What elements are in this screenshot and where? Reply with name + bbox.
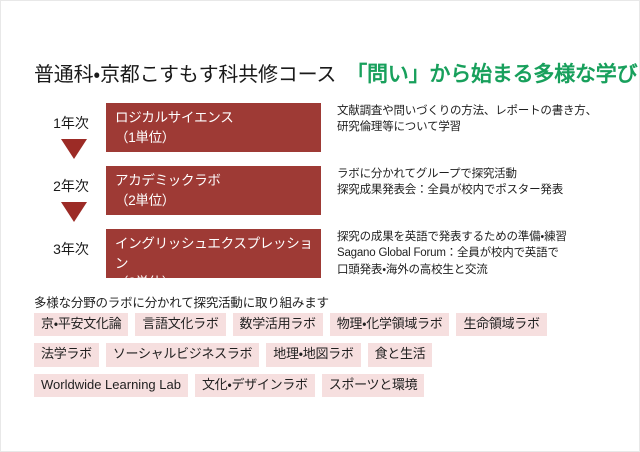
description-line: 口頭発表・海外の高校生と交流	[337, 262, 637, 278]
description-line: Sagano Global Forum：全員が校内で英語で	[337, 245, 637, 261]
course-description-2: ラボに分かれてグループで探究活動 探究成果発表会：全員が校内でポスター発表	[337, 166, 637, 199]
course-credit-1: （1単位）	[115, 128, 321, 148]
year-label-2: 2年次	[40, 176, 102, 196]
page-title: 普通科・京都こすもす科共修コース「問い」から始まる多様な学び	[34, 58, 634, 88]
course-box-2: アカデミックラボ （2単位）	[106, 166, 321, 215]
lab-tag[interactable]: 生命領域ラボ	[456, 313, 546, 336]
course-box-3: イングリッシュエクスプレッション （2単位）	[106, 229, 321, 278]
lab-tag[interactable]: 物理・化学領域ラボ	[330, 313, 450, 336]
slide-canvas: 普通科・京都こすもす科共修コース「問い」から始まる多様な学び 1年次 ロジカルサ…	[0, 0, 640, 452]
timeline: 1年次 ロジカルサイエンス （1単位） 文献調査や問いづくりの方法、レポートの書…	[34, 101, 634, 290]
course-box-1: ロジカルサイエンス （1単位）	[106, 103, 321, 152]
course-description-1: 文献調査や問いづくりの方法、レポートの書き方、 研究倫理等について学習	[337, 103, 637, 136]
lab-tag[interactable]: 京・平安文化論	[34, 313, 128, 336]
lab-tag[interactable]: スポーツと環境	[322, 374, 425, 397]
course-credit-2: （2単位）	[115, 191, 321, 211]
lab-tag-row: 法学ラボ ソーシャルビジネスラボ 地理・地図ラボ 食と生活	[34, 343, 634, 366]
description-line: 研究倫理等について学習	[337, 119, 637, 135]
description-line: 探究の成果を英語で発表するための準備・練習	[337, 229, 637, 245]
title-main-text: 普通科・京都こすもす科共修コース	[34, 64, 336, 86]
lab-tag-row: 京・平安文化論 言語文化ラボ 数学活用ラボ 物理・化学領域ラボ 生命領域ラボ	[34, 313, 634, 336]
lab-tag[interactable]: 文化・デザインラボ	[195, 374, 315, 397]
lab-tag[interactable]: 言語文化ラボ	[135, 313, 225, 336]
lab-tag[interactable]: 数学活用ラボ	[233, 313, 323, 336]
lab-tag[interactable]: 食と生活	[368, 343, 433, 366]
course-credit-3: （2単位）	[115, 273, 321, 293]
year-label-3: 3年次	[40, 239, 102, 259]
description-line: 探究成果発表会：全員が校内でポスター発表	[337, 182, 637, 198]
down-arrow-icon	[61, 139, 87, 159]
course-description-3: 探究の成果を英語で発表するための準備・練習 Sagano Global Foru…	[337, 229, 637, 278]
course-name-1: ロジカルサイエンス	[115, 108, 321, 128]
down-arrow-icon	[61, 202, 87, 222]
lab-tag[interactable]: ソーシャルビジネスラボ	[106, 343, 259, 366]
course-name-2: アカデミックラボ	[115, 171, 321, 191]
year-label-1: 1年次	[40, 113, 102, 133]
timeline-row: 2年次 アカデミックラボ （2単位） ラボに分かれてグループで探究活動 探究成果…	[34, 164, 634, 227]
labs-intro-text: 多様な分野のラボに分かれて探究活動に取り組みます	[34, 292, 329, 311]
timeline-row: 1年次 ロジカルサイエンス （1単位） 文献調査や問いづくりの方法、レポートの書…	[34, 101, 634, 164]
course-name-3: イングリッシュエクスプレッション	[115, 234, 321, 273]
description-line: 文献調査や問いづくりの方法、レポートの書き方、	[337, 103, 637, 119]
lab-tag-row: Worldwide Learning Lab 文化・デザインラボ スポーツと環境	[34, 374, 634, 397]
lab-tag-groups: 京・平安文化論 言語文化ラボ 数学活用ラボ 物理・化学領域ラボ 生命領域ラボ 法…	[34, 313, 634, 404]
lab-tag[interactable]: Worldwide Learning Lab	[34, 374, 188, 397]
description-line: ラボに分かれてグループで探究活動	[337, 166, 637, 182]
title-accent-text: 「問い」から始まる多様な学び	[346, 63, 637, 86]
lab-tag[interactable]: 法学ラボ	[34, 343, 99, 366]
timeline-row: 3年次 イングリッシュエクスプレッション （2単位） 探究の成果を英語で発表する…	[34, 227, 634, 290]
lab-tag[interactable]: 地理・地図ラボ	[266, 343, 360, 366]
